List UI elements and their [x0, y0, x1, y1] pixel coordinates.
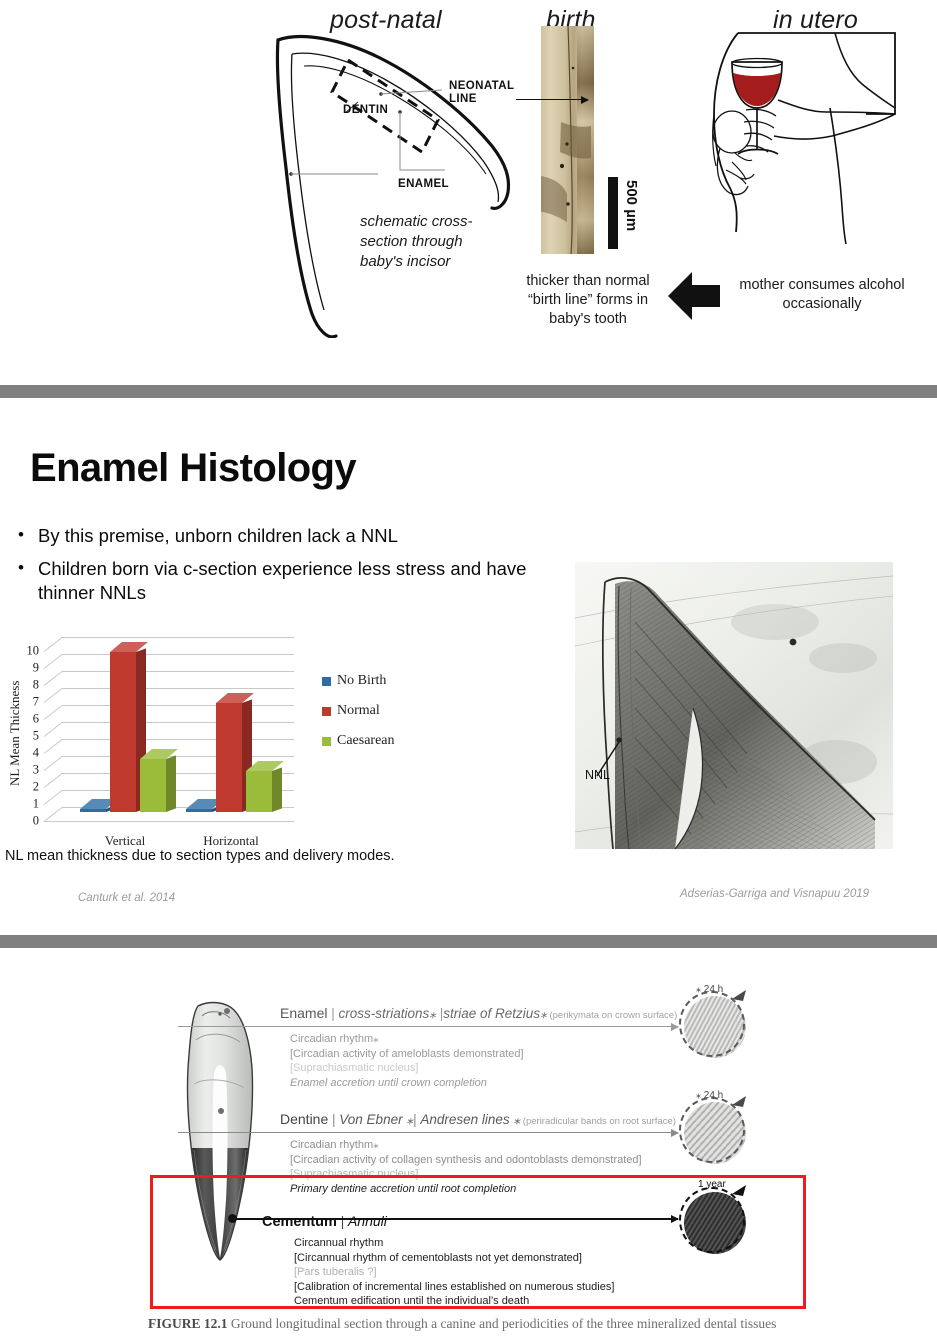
- chart-caption: NL mean thickness due to section types a…: [5, 848, 395, 864]
- enamel-histology-slide: Enamel Histology By this premise, unborn…: [0, 398, 937, 935]
- left-arrow-icon: [668, 272, 720, 320]
- chart-y-tick: 0: [33, 814, 39, 829]
- chart-legend-swatch: [322, 737, 331, 746]
- chart-y-tick: 1: [33, 797, 39, 812]
- chart-gridline-depth: [44, 756, 63, 771]
- cementum-periodicity-circle: [684, 1192, 746, 1254]
- scale-bar: [608, 177, 618, 249]
- chart-credit: Canturk et al. 2014: [78, 892, 175, 904]
- chart-legend-swatch: [322, 677, 331, 686]
- chart-floor: [44, 821, 294, 822]
- enamel-body-line: [Circadian activity of ameloblasts demon…: [290, 1047, 524, 1062]
- list-item: By this premise, unborn children lack a …: [10, 524, 530, 548]
- chart-gridline: [62, 671, 294, 672]
- chart-gridline-depth: [44, 654, 63, 669]
- schematic-caption: schematic cross-section throughbaby's in…: [360, 212, 510, 272]
- sep-5: |: [337, 1214, 348, 1229]
- cementum-body-line: [Pars tuberalis ?]: [294, 1265, 614, 1280]
- cementum-feature-1: Annuli: [348, 1213, 387, 1229]
- chart-bar-face: [186, 809, 212, 812]
- dentine-feature-2: Andresen lines ⁎: [420, 1112, 520, 1127]
- sep-1: |: [327, 1006, 338, 1021]
- chart-y-tick: 3: [33, 763, 39, 778]
- chart-gridline: [62, 739, 294, 740]
- chart-gridline-depth: [44, 688, 63, 703]
- chart-y-tick: 9: [33, 661, 39, 676]
- chart-legend-swatch: [322, 707, 331, 716]
- cementum-body-line: [Calibration of incremental lines establ…: [294, 1280, 614, 1295]
- neonatal-line-diagram-panel: post-natal birth in utero NEONATALLINE D…: [0, 0, 937, 385]
- dentine-periodicity-circle: [684, 1102, 746, 1164]
- enamel-row-header: Enamel | cross-striations⁎ |striae of Re…: [280, 1005, 677, 1023]
- chart-y-tick: 10: [27, 644, 40, 659]
- enamel-body-line: [Suprachiasmatic nucleus]: [290, 1061, 524, 1076]
- chart-y-tick: 7: [33, 695, 39, 710]
- chart-gridline: [62, 637, 294, 638]
- dentine-body-line: Circadian rhythm⁎: [290, 1138, 642, 1153]
- image-credit: Adserias-Garriga and Visnapuu 2019: [680, 888, 869, 900]
- label-enamel: ENAMEL: [398, 178, 449, 191]
- enamel-circle-label: ⁎ 24 h: [696, 984, 723, 995]
- chart-legend-row: Normal: [322, 703, 395, 719]
- chart-y-tick: 8: [33, 678, 39, 693]
- chart-bar-face: [246, 771, 272, 812]
- chart-legend-label: No Birth: [337, 673, 386, 689]
- dentine-feature-note: (periradicular bands on root surface): [520, 1116, 676, 1127]
- enamel-arrow-line: [178, 1026, 678, 1027]
- chart-gridline-depth: [44, 807, 63, 822]
- chart-gridline: [62, 654, 294, 655]
- dentine-tissue-name: Dentine: [280, 1111, 328, 1127]
- figure-12-1-panel: Enamel | cross-striations⁎ |striae of Re…: [0, 948, 937, 1338]
- chart-y-tick: 6: [33, 712, 39, 727]
- chart-bar: [140, 759, 166, 812]
- chart-gridline-depth: [44, 773, 63, 788]
- dentine-feature-1: Von Ebner ⁎: [339, 1112, 413, 1127]
- cementum-circle-label: 1 year: [698, 1179, 726, 1190]
- chart-x-tick: Horizontal: [203, 833, 259, 849]
- enamel-feature-note: (perikymata on crown surface): [547, 1010, 677, 1021]
- chart-y-axis-label: NL Mean Thickness: [6, 653, 24, 813]
- chart-gridline-depth: [44, 739, 63, 754]
- label-dentin: DENTIN: [343, 104, 388, 117]
- panel-separator-2: [0, 935, 937, 948]
- figure-caption-text: Ground longitudinal section through a ca…: [231, 1316, 776, 1331]
- chart-x-tick: Vertical: [105, 833, 145, 849]
- chart-gridline-depth: [44, 705, 63, 720]
- dentine-row-header: Dentine | Von Ebner ⁎| Andresen lines ⁎ …: [280, 1111, 676, 1129]
- cementum-body-line: Cementum edification until the individua…: [294, 1294, 614, 1309]
- bullet-list: By this premise, unborn children lack a …: [10, 524, 530, 614]
- chart-y-tick: 2: [33, 780, 39, 795]
- chart-legend: No BirthNormalCaesarean: [322, 673, 395, 763]
- neonatal-line-arrow: [516, 99, 588, 100]
- chart-gridline-depth: [44, 637, 63, 652]
- sep-3: |: [328, 1112, 339, 1127]
- nl-mean-thickness-chart: NL Mean Thickness 012345678910VerticalHo…: [0, 631, 420, 843]
- chart-gridline: [62, 688, 294, 689]
- enamel-feature-1: cross-striations⁎: [338, 1006, 436, 1021]
- chart-gridline: [62, 722, 294, 723]
- enamel-periodicity-circle: [684, 996, 746, 1058]
- chart-bar-face: [110, 652, 136, 812]
- chart-gridline: [62, 756, 294, 757]
- chart-bar: [246, 771, 272, 812]
- chart-legend-label: Caesarean: [337, 733, 395, 749]
- dentine-arrow-line: [178, 1132, 678, 1133]
- page-title: Enamel Histology: [30, 446, 356, 491]
- chart-y-tick: 4: [33, 746, 39, 761]
- scale-bar-label: 500 µm: [623, 180, 640, 231]
- chart-gridline-depth: [44, 790, 63, 805]
- cementum-arrow-line: [232, 1218, 678, 1220]
- enamel-tissue-name: Enamel: [280, 1005, 327, 1021]
- enamel-micrograph: NNL: [575, 562, 893, 849]
- in-utero-caption: mother consumes alcoholoccasionally: [726, 276, 918, 314]
- enamel-row-body: Circadian rhythm⁎ [Circadian activity of…: [290, 1032, 524, 1090]
- chart-bar-face: [216, 703, 242, 812]
- enamel-connector-dot: [224, 1008, 230, 1014]
- figure-caption: FIGURE 12.1 Ground longitudinal section …: [148, 1314, 788, 1333]
- figure-caption-number: FIGURE 12.1: [148, 1316, 228, 1331]
- chart-bar: [80, 809, 106, 812]
- chart-gridline: [62, 705, 294, 706]
- label-neonatal-line: NEONATALLINE: [449, 80, 514, 106]
- chart-gridline-depth: [44, 722, 63, 737]
- chart-legend-label: Normal: [337, 703, 380, 719]
- pregnant-mother-drawing: [690, 28, 910, 253]
- chart-gridline-depth: [44, 671, 63, 686]
- cementum-body-line: Circannual rhythm: [294, 1236, 614, 1251]
- panel-separator-1: [0, 385, 937, 398]
- chart-bar-face: [140, 759, 166, 812]
- nnl-label: NNL: [585, 768, 610, 782]
- cementum-row-body: Circannual rhythm [Circannual rhythm of …: [294, 1236, 614, 1309]
- chart-bar: [216, 703, 242, 812]
- list-item: Children born via c-section experience l…: [10, 557, 530, 605]
- birth-caption: thicker than normal“birth line” forms in…: [508, 272, 668, 329]
- dentine-circle-label: ⁎ 24 h: [696, 1090, 723, 1101]
- chart-bar-side: [272, 767, 282, 811]
- chart-bar-face: [80, 809, 106, 812]
- chart-bar: [186, 809, 212, 812]
- chart-legend-row: Caesarean: [322, 733, 395, 749]
- dentine-connector-dot: [218, 1108, 224, 1114]
- chart-legend-row: No Birth: [322, 673, 395, 689]
- chart-y-tick: 5: [33, 729, 39, 744]
- chart-bar-side: [166, 756, 176, 812]
- dentine-body-line: [Circadian activity of collagen synthesi…: [290, 1153, 642, 1168]
- cementum-body-line: [Circannual rhythm of cementoblasts not …: [294, 1251, 614, 1266]
- chart-plot-area: 012345678910VerticalHorizontal: [44, 637, 294, 807]
- chart-bar: [110, 652, 136, 812]
- enamel-feature-2: striae of Retzius⁎: [443, 1006, 547, 1021]
- enamel-body-line: Circadian rhythm⁎: [290, 1032, 524, 1047]
- enamel-body-line: Enamel accretion until crown completion: [290, 1076, 524, 1091]
- incisor-schematic-drawing: [270, 28, 520, 338]
- cementum-tissue-name: Cementum: [262, 1214, 337, 1230]
- birth-line-micrograph: [541, 26, 594, 254]
- cementum-row-header: Cementum | Annuli: [262, 1213, 387, 1231]
